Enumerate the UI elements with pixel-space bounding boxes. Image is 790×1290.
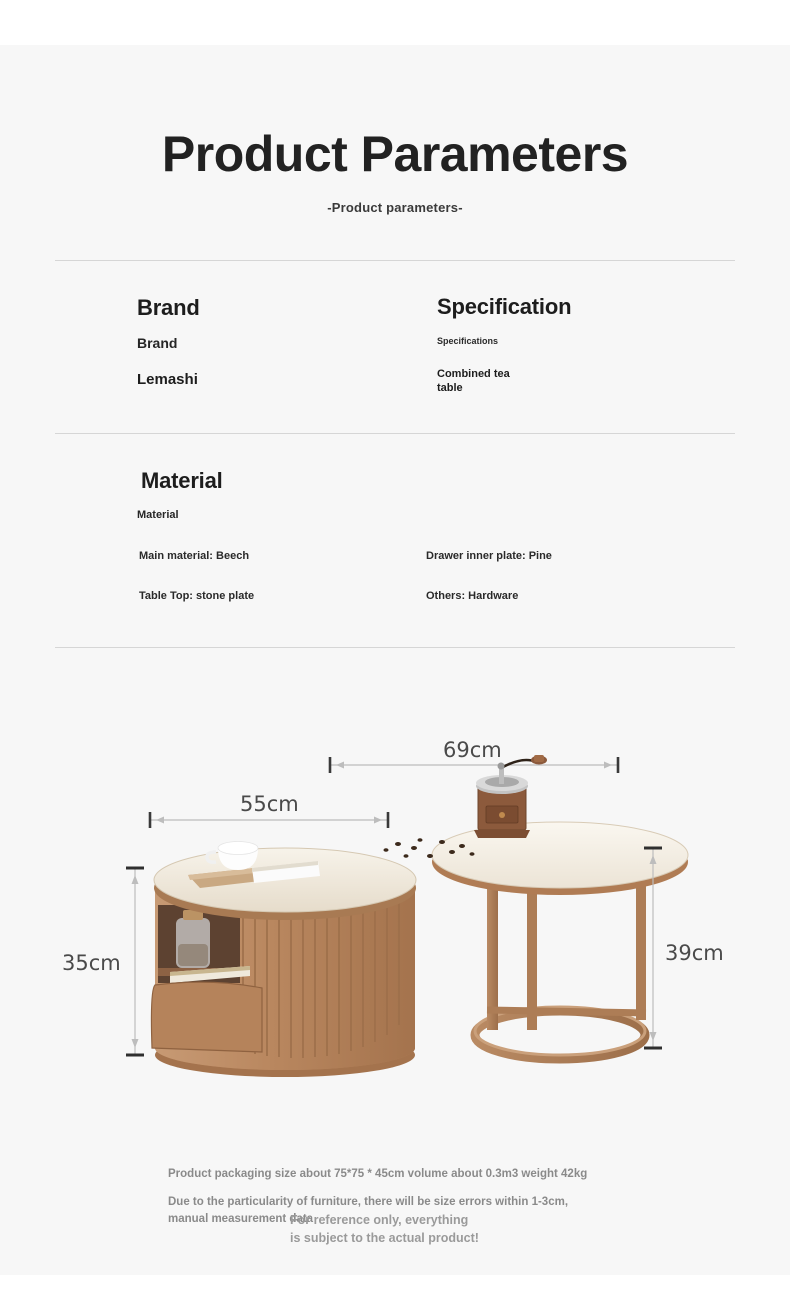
- material-row: Main material: Beech Drawer inner plate:…: [137, 550, 737, 590]
- material-item: Main material: Beech: [139, 550, 249, 562]
- brand-sublabel: Brand: [137, 335, 200, 351]
- specification-section: Specification Specifications Combined te…: [437, 294, 571, 396]
- dimension-label-69cm: 69cm: [443, 738, 502, 762]
- divider-middle: [55, 433, 735, 434]
- product-image: 69cm 55cm 35cm 39cm: [0, 700, 790, 1130]
- material-sublabel: Material: [137, 509, 223, 521]
- material-row: Table Top: stone plate Others: Hardware: [137, 590, 737, 630]
- brand-heading: Brand: [137, 295, 200, 321]
- material-item: Table Top: stone plate: [139, 590, 254, 602]
- material-list: Main material: Beech Drawer inner plate:…: [137, 550, 737, 630]
- brand-section: Brand Brand Lemashi: [137, 295, 200, 388]
- table-drawer: [151, 982, 262, 1052]
- brand-value: Lemashi: [137, 371, 200, 388]
- storage-jar: [176, 910, 210, 968]
- material-item: Drawer inner plate: Pine: [426, 550, 552, 562]
- product-parameters-page: Product Parameters -Product parameters- …: [0, 0, 790, 1290]
- dimension-label-55cm: 55cm: [240, 792, 299, 816]
- dimension-label-35cm: 35cm: [62, 951, 121, 975]
- divider-bottom: [55, 647, 735, 648]
- small-tea-table: [151, 842, 416, 1078]
- dimension-label-39cm: 39cm: [665, 941, 724, 965]
- specification-heading: Specification: [437, 294, 571, 320]
- specification-sublabel: Specifications: [437, 336, 571, 346]
- large-tea-table: [384, 755, 689, 1059]
- packaging-note: Product packaging size about 75*75 * 45c…: [168, 1168, 587, 1180]
- material-item: Others: Hardware: [426, 590, 518, 602]
- size-error-note-line1: Due to the particularity of furniture, t…: [168, 1196, 568, 1208]
- divider-top: [55, 260, 735, 261]
- specification-value: Combined tea table: [437, 368, 527, 396]
- dimension-small-height: [126, 868, 144, 1055]
- reference-note-line1: For reference only, everything: [290, 1213, 468, 1227]
- material-heading: Material: [141, 468, 223, 494]
- page-title: Product Parameters: [0, 128, 790, 181]
- reference-note-line2: is subject to the actual product!: [290, 1231, 479, 1245]
- product-illustration: [0, 700, 790, 1130]
- material-section: Material Material: [137, 468, 223, 521]
- page-subtitle: -Product parameters-: [0, 200, 790, 215]
